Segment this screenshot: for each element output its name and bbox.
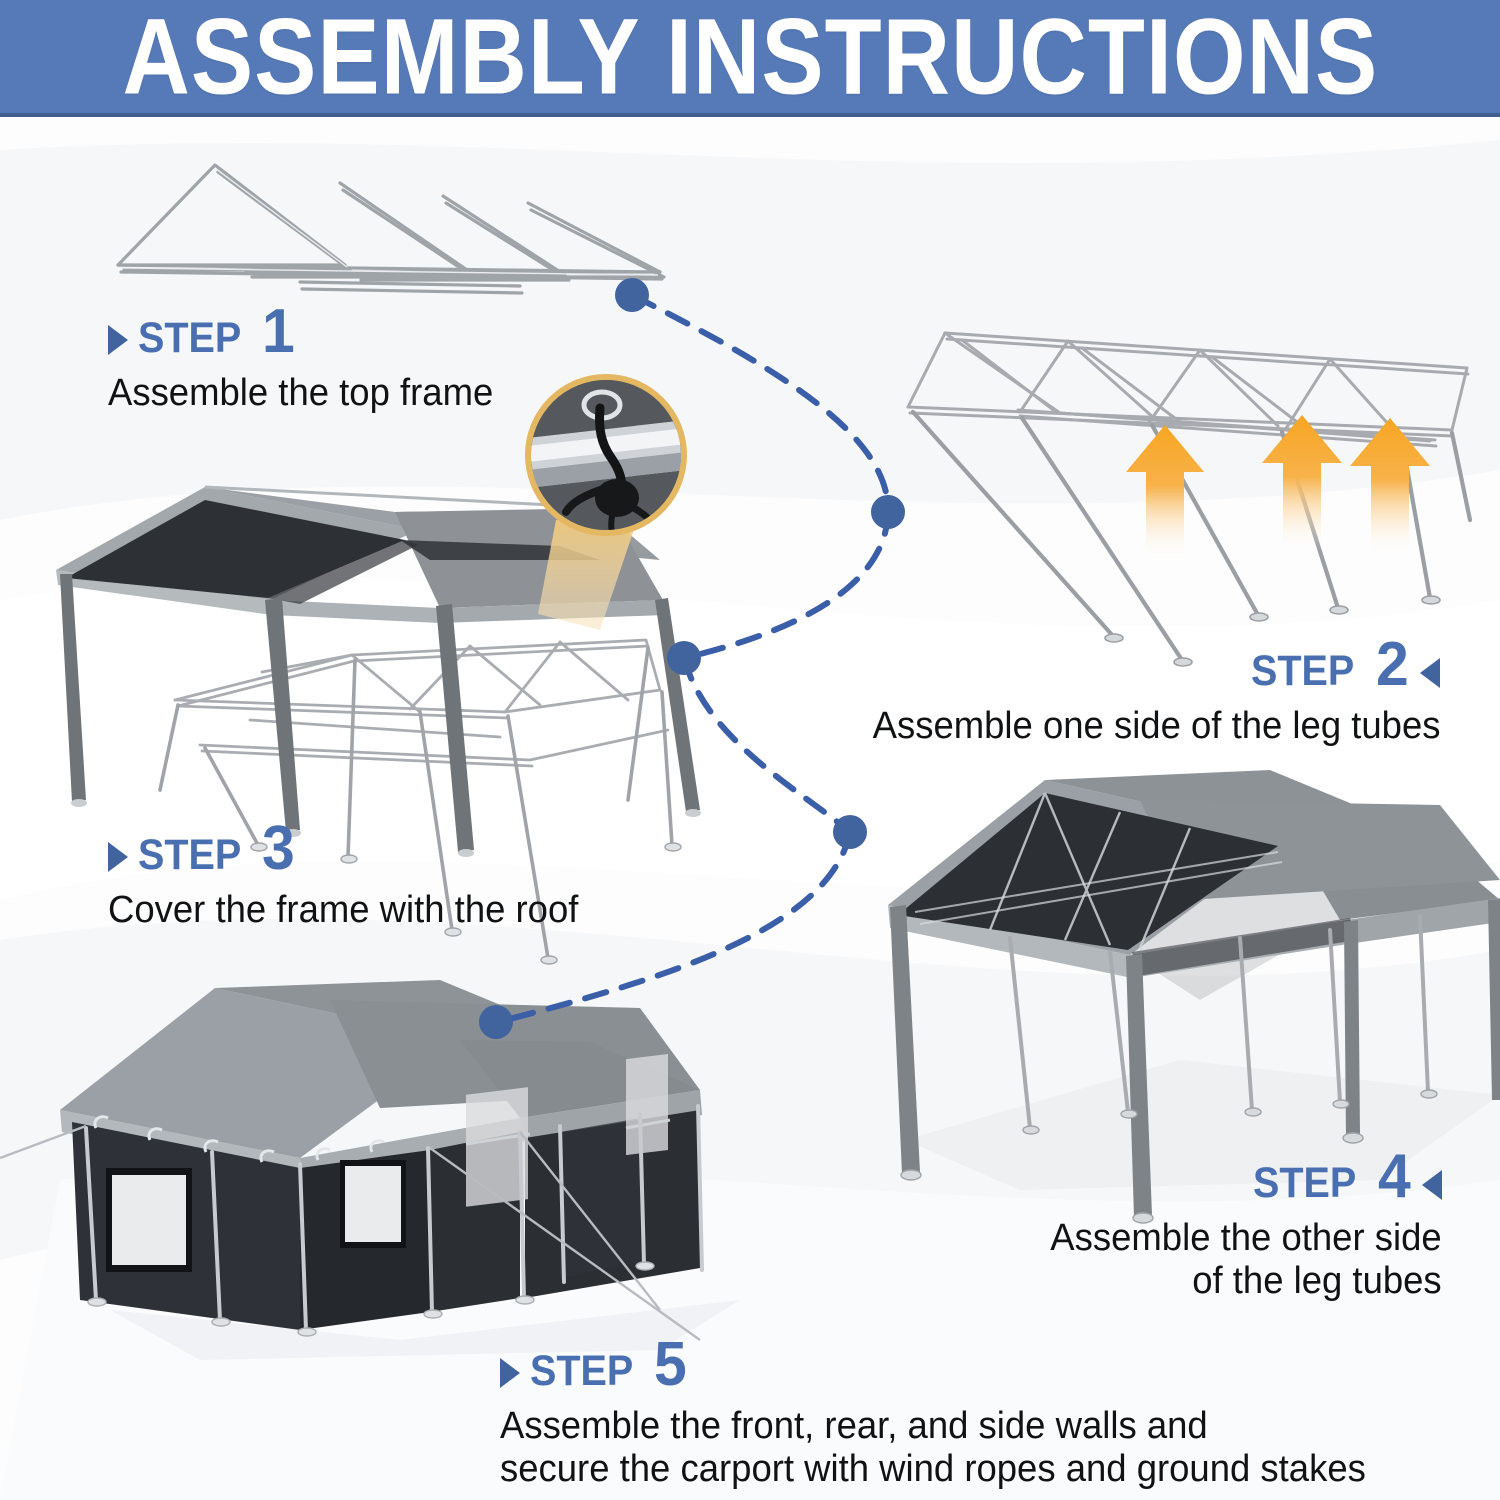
step-3-label-block: STEP 3 Cover the frame with the roof	[108, 822, 598, 932]
step-3-number: 3	[262, 822, 295, 877]
step-4-description: Assemble the other side of the leg tubes	[1051, 1217, 1442, 1304]
flow-dot-2	[871, 495, 905, 529]
triangle-left-icon	[1420, 658, 1440, 688]
step-2-description: Assemble one side of the leg tubes	[872, 705, 1440, 748]
step-1-number: 1	[262, 305, 295, 360]
step-2-heading: STEP 2	[849, 638, 1441, 693]
step-2-number: 2	[1376, 638, 1409, 693]
flow-dot-5	[479, 1005, 513, 1039]
up-arrow-group	[1126, 415, 1430, 560]
flow-dot-1	[615, 278, 649, 312]
step-1-label-block: STEP 1 Assemble the top frame	[108, 305, 509, 415]
enclosed-carport	[0, 980, 740, 1360]
step-2-label-block: STEP 2 Assemble one side of the leg tube…	[849, 638, 1441, 748]
step-3-description: Cover the frame with the roof	[108, 889, 578, 932]
step-4-word: STEP	[1253, 1162, 1356, 1205]
triangle-right-icon	[108, 842, 128, 872]
step-1-word: STEP	[138, 317, 241, 360]
assembly-instructions-page: ASSEMBLY INSTRUCTIONS	[0, 0, 1500, 1500]
step-4-number: 4	[1378, 1150, 1411, 1205]
step-3-heading: STEP 3	[108, 822, 598, 877]
triangle-right-icon	[500, 1358, 520, 1388]
step-1-description: Assemble the top frame	[108, 372, 493, 415]
canopy-roof	[56, 487, 701, 857]
step-4-heading: STEP 4	[1034, 1150, 1442, 1205]
triangle-left-icon	[1422, 1170, 1442, 1200]
step-2-word: STEP	[1251, 650, 1354, 693]
step-1-heading: STEP 1	[108, 305, 509, 360]
page-title: ASSEMBLY INSTRUCTIONS	[122, 3, 1378, 110]
step-5-heading: STEP 5	[500, 1338, 1402, 1393]
step-4-label-block: STEP 4 Assemble the other side of the le…	[1034, 1150, 1442, 1303]
triangle-right-icon	[108, 325, 128, 355]
step-5-number: 5	[654, 1338, 687, 1393]
step-5-label-block: STEP 5 Assemble the front, rear, and sid…	[500, 1338, 1402, 1491]
step-3-word: STEP	[138, 834, 241, 877]
flow-dot-3	[667, 641, 701, 675]
flow-dot-4	[833, 815, 867, 849]
hook-detail-magnifier	[528, 377, 686, 630]
step-5-description: Assemble the front, rear, and side walls…	[500, 1405, 1366, 1492]
header-banner: ASSEMBLY INSTRUCTIONS	[0, 0, 1500, 117]
step-5-word: STEP	[530, 1350, 633, 1393]
